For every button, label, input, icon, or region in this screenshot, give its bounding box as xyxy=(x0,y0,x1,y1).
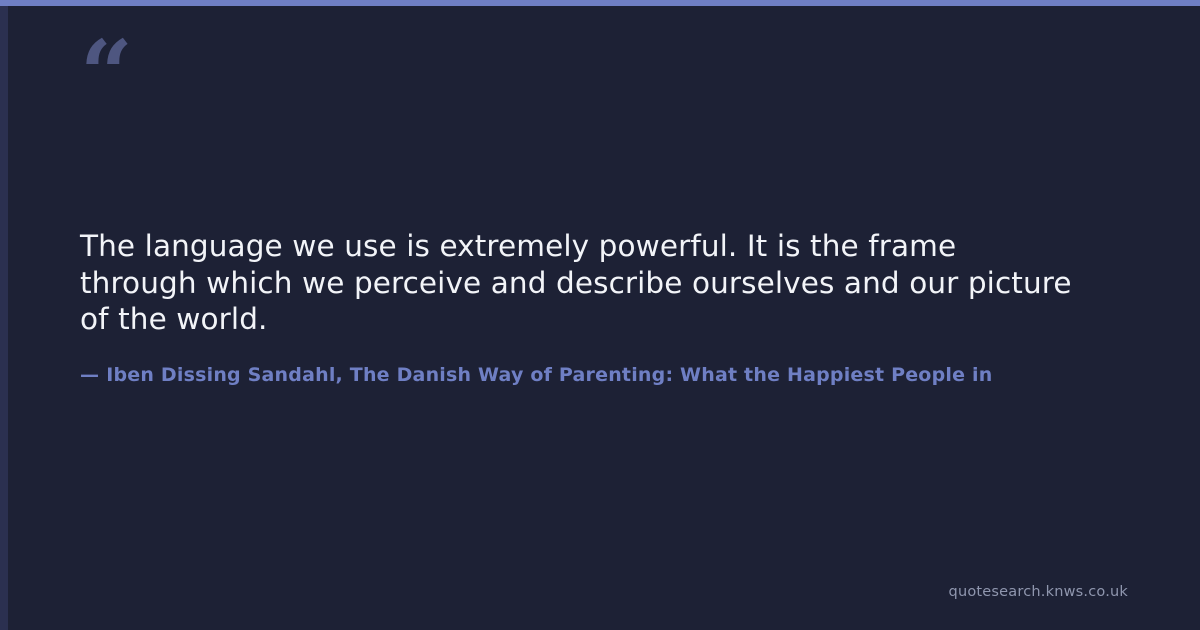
quote-card: “ The language we use is extremely power… xyxy=(8,6,1200,630)
left-accent-stripe xyxy=(0,6,8,630)
attribution-dash: — xyxy=(80,364,99,386)
quote-text: The language we use is extremely powerfu… xyxy=(80,228,1080,338)
attribution: —Iben Dissing Sandahl, The Danish Way of… xyxy=(80,361,1200,389)
attribution-text: Iben Dissing Sandahl, The Danish Way of … xyxy=(106,364,992,386)
quote-mark-icon: “ xyxy=(80,28,131,120)
source-url: quotesearch.knws.co.uk xyxy=(949,584,1128,600)
